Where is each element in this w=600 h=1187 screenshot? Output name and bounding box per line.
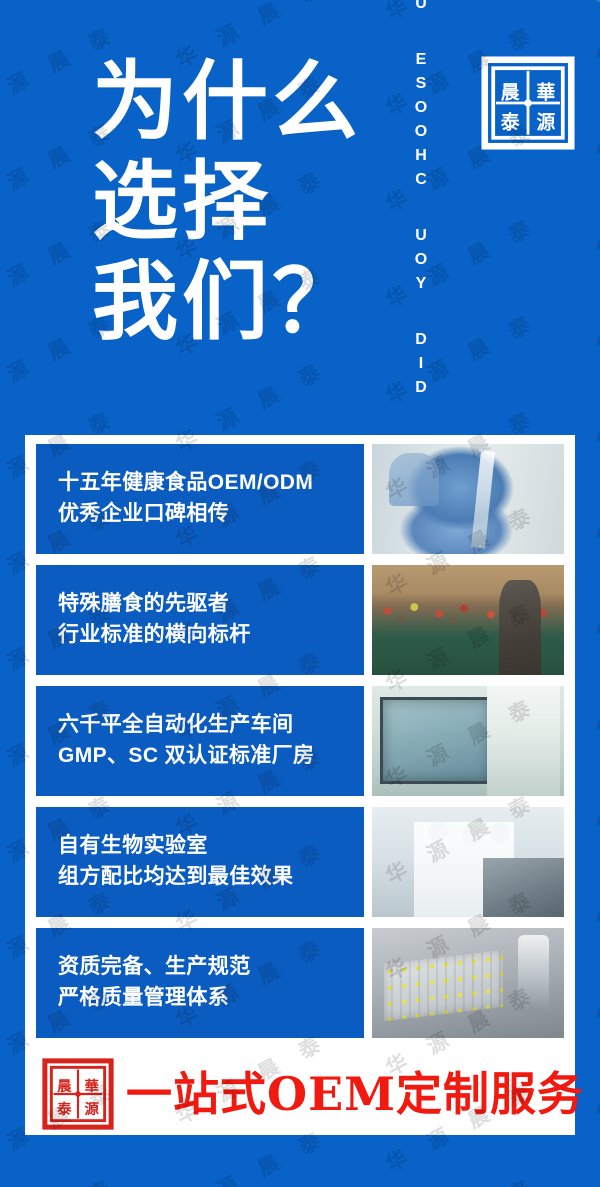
watermark-text: 华 源 晨 泰 <box>590 545 600 651</box>
vertical-caption-letter <box>419 300 423 316</box>
feature-row: 自有生物实验室 组方配比均达到最佳效果 <box>36 807 564 917</box>
vertical-caption-letter: D <box>415 332 427 348</box>
features-panel: 十五年健康食品OEM/ODM 优秀企业口碑相传 特殊膳食的先驱者 行业标准的横向… <box>25 435 575 1052</box>
watermark-text: 华 源 晨 泰 <box>590 449 600 555</box>
watermark-text: 华 源 晨 泰 <box>0 1169 123 1187</box>
promo-poster: WHY 为什么 选择 我们？ DID YOU CHOOSE US 晨 華 泰 源 <box>0 0 600 1187</box>
svg-text:泰: 泰 <box>500 111 520 134</box>
page-title: 为什么 选择 我们？ <box>92 52 362 351</box>
feature-row: 六千平全自动化生产车间 GMP、SC 双认证标准厂房 <box>36 686 564 796</box>
feature-text-block: 资质完备、生产规范 严格质量管理体系 <box>36 928 364 1038</box>
feature-line: 资质完备、生产规范 <box>58 952 364 983</box>
svg-text:泰: 泰 <box>56 1099 72 1117</box>
company-seal-red: 晨 華 泰 源 <box>42 1058 114 1130</box>
svg-text:源: 源 <box>84 1099 99 1117</box>
packaging-line-photo <box>372 807 564 917</box>
vertical-caption-letter <box>419 20 423 36</box>
vertical-caption-letter: O <box>415 100 427 116</box>
feature-line: 优秀企业口碑相传 <box>58 499 364 530</box>
feature-line: 组方配比均达到最佳效果 <box>58 862 364 893</box>
cta-headline: 一站式OEM定制服务 <box>126 1071 584 1117</box>
watermark-text: 华 源 晨 泰 <box>590 1121 600 1187</box>
svg-text:晨: 晨 <box>501 82 520 104</box>
feature-text-block: 十五年健康食品OEM/ODM 优秀企业口碑相传 <box>36 444 364 554</box>
svg-text:華: 華 <box>84 1076 98 1094</box>
watermark-text: 华 源 晨 泰 <box>590 737 600 843</box>
feature-line: 特殊膳食的先驱者 <box>58 589 364 620</box>
vertical-caption-letter: E <box>416 52 427 68</box>
vertical-caption-letter: H <box>415 148 427 164</box>
watermark-text: 华 源 晨 泰 <box>590 1025 600 1131</box>
vertical-caption-letter: I <box>419 356 423 372</box>
conference-audience-photo <box>372 565 564 675</box>
feature-line: GMP、SC 双认证标准厂房 <box>58 741 364 772</box>
feature-row: 资质完备、生产规范 严格质量管理体系 <box>36 928 564 1038</box>
feature-text-block: 六千平全自动化生产车间 GMP、SC 双认证标准厂房 <box>36 686 364 796</box>
vertical-caption-letter: C <box>415 172 427 188</box>
feature-row: 特殊膳食的先驱者 行业标准的横向标杆 <box>36 565 564 675</box>
watermark-text: 华 源 晨 泰 <box>590 833 600 939</box>
feature-text-block: 自有生物实验室 组方配比均达到最佳效果 <box>36 807 364 917</box>
title-line-2: 选择 <box>92 152 362 252</box>
title-line-3: 我们？ <box>92 252 362 352</box>
watermark-text: 华 源 晨 泰 <box>590 641 600 747</box>
vertical-caption-letter: O <box>415 252 427 268</box>
vertical-caption-letter: S <box>416 76 427 92</box>
cleanroom-corridor-photo <box>372 686 564 796</box>
watermark-text: 华 源 晨 泰 <box>590 929 600 1035</box>
lab-technician-photo <box>372 444 564 554</box>
feature-line: 十五年健康食品OEM/ODM <box>58 468 364 499</box>
watermark-text: 华 源 晨 泰 <box>380 1169 543 1187</box>
cta-banner: 晨 華 泰 源 一站式OEM定制服务 <box>25 1052 575 1135</box>
feature-text-block: 特殊膳食的先驱者 行业标准的横向标杆 <box>36 565 364 675</box>
vertical-caption-letter: Y <box>416 276 427 292</box>
svg-text:源: 源 <box>536 111 555 134</box>
feature-line: 六千平全自动化生产车间 <box>58 710 364 741</box>
company-seal-white: 晨 華 泰 源 <box>481 56 575 150</box>
feature-line: 自有生物实验室 <box>58 831 364 862</box>
vertical-caption-letter <box>419 196 423 212</box>
vertical-caption-letter: U <box>415 0 427 12</box>
hero-section: WHY 为什么 选择 我们？ DID YOU CHOOSE US 晨 華 泰 源 <box>0 0 600 435</box>
svg-text:晨: 晨 <box>57 1076 72 1094</box>
vertical-english-caption: DID YOU CHOOSE US <box>404 18 438 404</box>
feature-row: 十五年健康食品OEM/ODM 优秀企业口碑相传 <box>36 444 564 554</box>
vertical-caption-letter: O <box>415 124 427 140</box>
title-line-1: 为什么 <box>92 52 362 152</box>
feature-line: 行业标准的横向标杆 <box>58 620 364 651</box>
feature-line: 严格质量管理体系 <box>58 983 364 1014</box>
svg-text:華: 華 <box>536 81 555 104</box>
vertical-caption-letter: D <box>415 380 427 396</box>
vertical-caption-letter: U <box>415 228 427 244</box>
tablet-machine-photo <box>372 928 564 1038</box>
